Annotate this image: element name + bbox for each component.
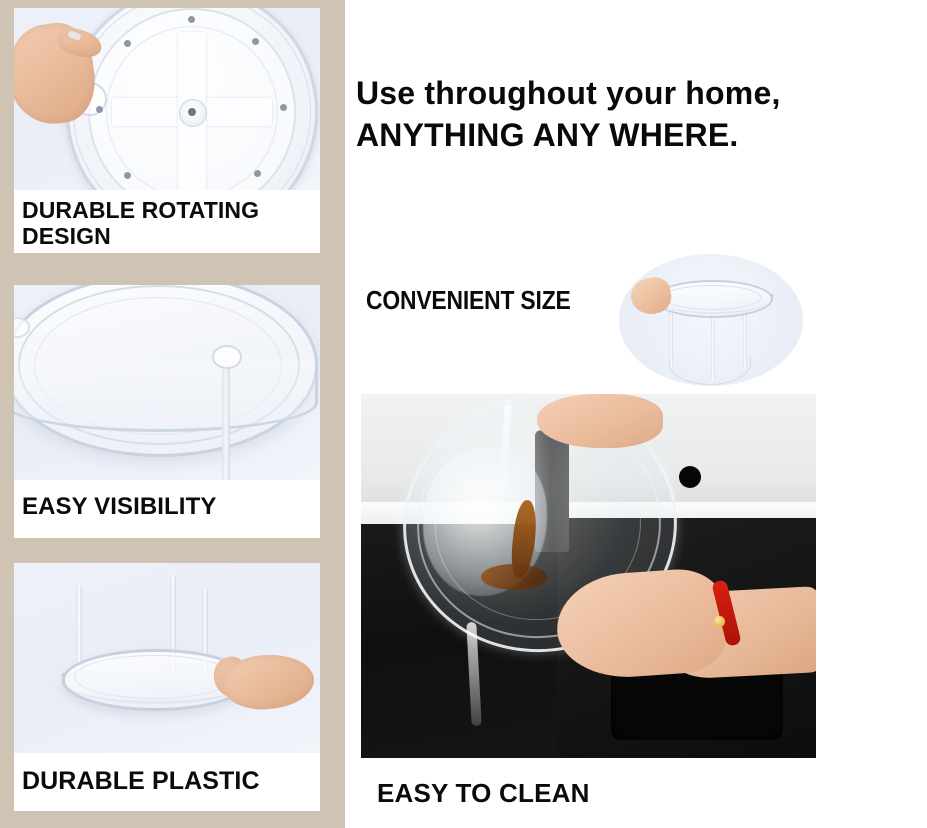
inset-base — [669, 358, 751, 385]
sauce-residue — [481, 564, 547, 590]
hand-top — [537, 394, 663, 448]
bowl-support-post — [222, 359, 230, 480]
turntable-photo — [14, 8, 320, 190]
inset-tray-inner-rim — [663, 285, 761, 310]
feature-caption-1: DURABLE ROTATING DESIGN — [14, 190, 320, 249]
bowl-side-wall — [14, 359, 318, 432]
bowl-knob-right — [212, 345, 242, 369]
left-feature-column: DURABLE ROTATING DESIGN EASY VISIBILITY — [0, 0, 345, 828]
turntable-bearing-dot — [96, 106, 103, 113]
turntable-illustration — [66, 8, 318, 190]
tray-with-rods-illustration — [14, 563, 320, 753]
sink-drain-hole — [679, 466, 701, 488]
clear-bowl-illustration — [14, 285, 320, 480]
convenient-size-inset-image — [619, 254, 803, 386]
feature-caption-3: DURABLE PLASTIC — [14, 753, 320, 795]
turntable-bearing-dot — [280, 104, 287, 111]
easy-to-clean-label: EASY TO CLEAN — [377, 778, 590, 809]
feature-card-durable-plastic: DURABLE PLASTIC — [14, 563, 320, 811]
page-headline: Use throughout your home, ANYTHING ANY W… — [356, 72, 916, 156]
feature-card-durable-rotating-design: DURABLE ROTATING DESIGN — [14, 8, 320, 253]
feature-card-easy-visibility: EASY VISIBILITY — [14, 285, 320, 538]
easy-to-clean-photo — [361, 394, 816, 758]
turntable-bearing-dot — [188, 16, 195, 23]
durable-plastic-photo — [14, 563, 320, 753]
visibility-photo — [14, 285, 320, 480]
turntable-center-hub — [179, 99, 207, 127]
turntable-bearing-dot — [252, 38, 259, 45]
product-infographic: DURABLE ROTATING DESIGN EASY VISIBILITY — [0, 0, 927, 828]
tray-inner-rim — [74, 655, 234, 699]
turntable-bearing-dot — [124, 40, 131, 47]
bracelet-gold-bead — [714, 616, 725, 627]
turntable-bearing-dot — [124, 172, 131, 179]
convenient-size-label: CONVENIENT SIZE — [366, 285, 571, 316]
feature-caption-2: EASY VISIBILITY — [14, 480, 320, 520]
turntable-bearing-dot — [254, 170, 261, 177]
